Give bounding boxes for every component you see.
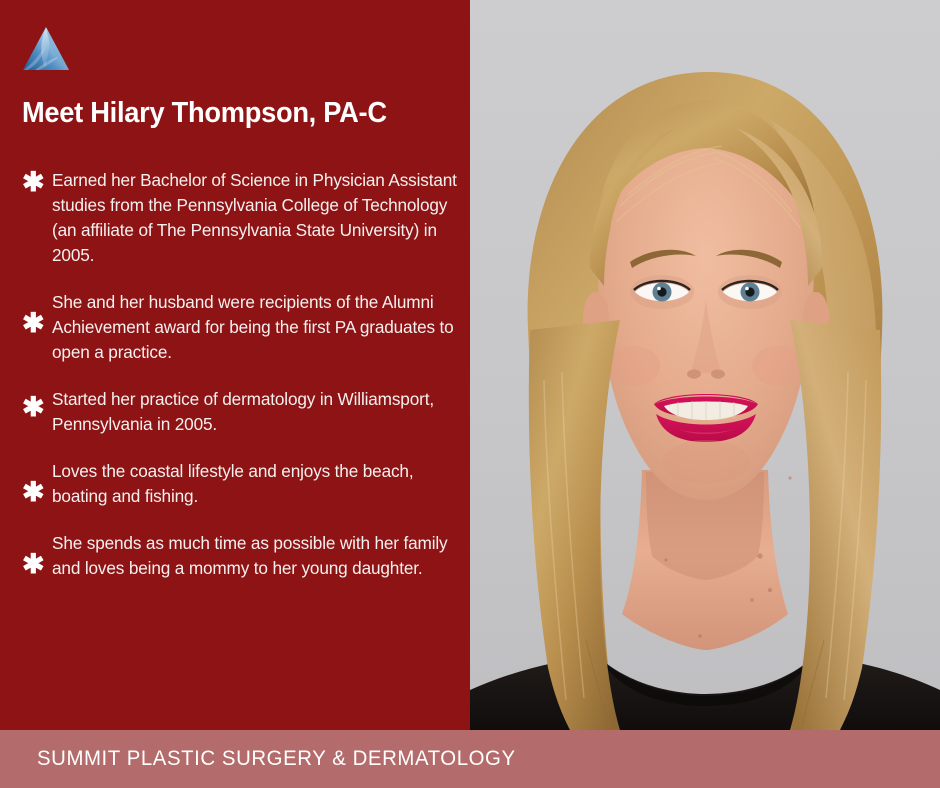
list-item-text: Earned her Bachelor of Science in Physic… <box>52 168 458 268</box>
list-item: ✱ Loves the coastal lifestyle and enjoys… <box>18 459 458 509</box>
page-title: Meet Hilary Thompson, PA-C <box>22 96 426 130</box>
provider-portrait-photo <box>470 0 940 730</box>
practice-name: SUMMIT PLASTIC SURGERY & DERMATOLOGY <box>37 730 516 788</box>
asterisk-bullet-icon: ✱ <box>18 394 52 421</box>
list-item-text: Loves the coastal lifestyle and enjoys t… <box>52 459 458 509</box>
asterisk-bullet-icon: ✱ <box>18 551 52 578</box>
bio-bullet-list: ✱ Earned her Bachelor of Science in Phys… <box>18 168 458 581</box>
summit-triangle-mountain-logo-icon <box>21 24 71 74</box>
list-item: ✱ Earned her Bachelor of Science in Phys… <box>18 168 458 268</box>
bio-panel: Meet Hilary Thompson, PA-C ✱ Earned her … <box>0 0 470 730</box>
footer-bar: SUMMIT PLASTIC SURGERY & DERMATOLOGY <box>0 730 940 788</box>
asterisk-bullet-icon: ✱ <box>18 169 52 196</box>
provider-bio-poster: Meet Hilary Thompson, PA-C ✱ Earned her … <box>0 0 940 788</box>
list-item-text: She spends as much time as possible with… <box>52 531 458 581</box>
asterisk-bullet-icon: ✱ <box>18 479 52 506</box>
list-item-text: She and her husband were recipients of t… <box>52 290 458 365</box>
asterisk-bullet-icon: ✱ <box>18 310 52 337</box>
list-item: ✱ She and her husband were recipients of… <box>18 290 458 365</box>
list-item-text: Started her practice of dermatology in W… <box>52 387 458 437</box>
list-item: ✱ She spends as much time as possible wi… <box>18 531 458 581</box>
list-item: ✱ Started her practice of dermatology in… <box>18 387 458 437</box>
